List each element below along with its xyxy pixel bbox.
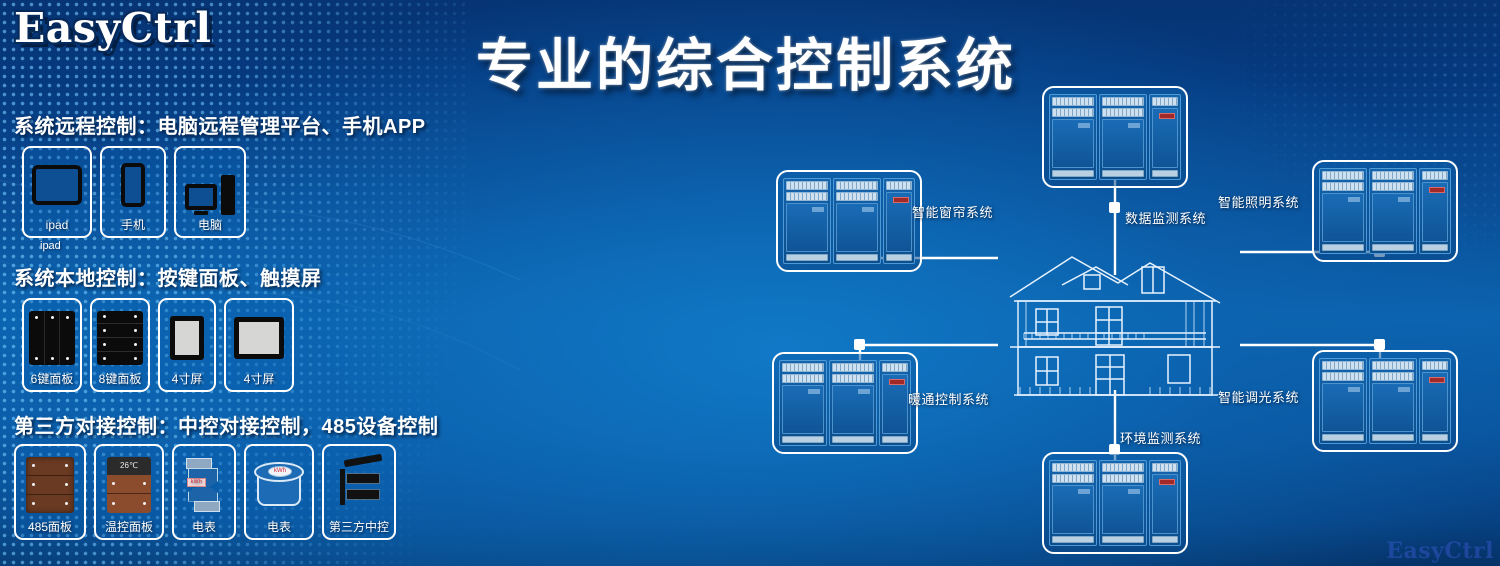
controller-box-environment[interactable] xyxy=(1042,452,1188,554)
device-card-label: ipad xyxy=(46,218,69,232)
controller-box-monitoring[interactable] xyxy=(1042,86,1188,188)
watermark: EasyCtrl xyxy=(1386,538,1494,564)
third-party-rack-icon xyxy=(328,452,390,517)
rs485-panel-icon xyxy=(20,452,80,517)
thermostat-panel-icon: 26℃ xyxy=(100,452,158,517)
round-meter-icon: kWh xyxy=(250,452,308,517)
device-card-label: 电脑 xyxy=(198,218,222,232)
device-card-round-meter[interactable]: kWh 电表 xyxy=(244,444,314,540)
device-card-touch-screen-1[interactable]: 4寸屏 xyxy=(158,298,216,392)
touch-screen-wide-icon xyxy=(230,306,288,369)
node-label-dimming: 智能调光系统 xyxy=(1218,387,1299,406)
device-card-touch-screen-2[interactable]: 4寸屏 xyxy=(224,298,294,392)
ipad-sub-note: ipad xyxy=(40,240,61,252)
controller-module xyxy=(1149,94,1181,180)
din-meter-icon: kWh xyxy=(178,452,230,517)
controller-module xyxy=(829,360,877,446)
card-row-thirdparty: 485面板 26℃ 温控面板 kWh 电表 xyxy=(14,444,396,540)
device-card-label: 第三方中控 xyxy=(329,520,389,534)
node-label-lighting: 智能照明系统 xyxy=(1218,192,1299,211)
thermostat-display-value: 26℃ xyxy=(107,457,151,475)
controller-box-lighting[interactable] xyxy=(1312,160,1458,262)
house-illustration xyxy=(1000,245,1230,405)
controller-module xyxy=(1319,168,1367,254)
controller-module xyxy=(879,360,911,446)
controller-box-hvac[interactable] xyxy=(772,352,918,454)
controller-module xyxy=(1049,94,1097,180)
brand-logo: EasyCtrl xyxy=(14,4,211,52)
poster-canvas: EasyCtrl 专业的综合控制系统 系统远程控制：电脑远程管理平台、手机APP… xyxy=(0,0,1500,566)
device-card-8key-panel[interactable]: 8键面板 xyxy=(90,298,150,392)
device-card-label: 4寸屏 xyxy=(172,372,203,386)
touch-screen-icon xyxy=(164,306,210,369)
controller-module xyxy=(1049,460,1097,546)
device-card-label: 电表 xyxy=(192,520,216,534)
node-label-hvac: 暖通控制系统 xyxy=(908,389,989,408)
device-card-label: 电表 xyxy=(267,520,291,534)
tablet-icon xyxy=(28,154,86,215)
device-card-third-party-rack[interactable]: 第三方中控 xyxy=(322,444,396,540)
controller-module xyxy=(783,178,831,264)
meter-badge: kWh xyxy=(268,466,292,477)
controller-module xyxy=(1419,358,1451,444)
eight-key-panel-icon xyxy=(96,306,144,369)
controller-module xyxy=(1099,94,1147,180)
node-label-environment: 环境监测系统 xyxy=(1120,428,1201,447)
controller-module xyxy=(833,178,881,264)
controller-module xyxy=(1369,168,1417,254)
device-card-label: 8键面板 xyxy=(99,372,142,386)
node-label-monitoring: 数据监测系统 xyxy=(1125,208,1206,227)
section-heading-thirdparty: 第三方对接控制：中控对接控制，485设备控制 xyxy=(14,410,438,439)
computer-icon xyxy=(180,154,240,215)
device-card-label: 温控面板 xyxy=(105,520,153,534)
controller-module xyxy=(1149,460,1181,546)
controller-module xyxy=(883,178,915,264)
controller-module xyxy=(1369,358,1417,444)
device-card-thermostat-panel[interactable]: 26℃ 温控面板 xyxy=(94,444,164,540)
device-card-label: 手机 xyxy=(121,218,145,232)
device-card-label: 485面板 xyxy=(28,520,72,534)
card-row-remote: ipad 手机 电脑 xyxy=(22,146,246,238)
meter-badge: kWh xyxy=(187,478,206,487)
device-card-label: 4寸屏 xyxy=(244,372,275,386)
node-label-curtain: 智能窗帘系统 xyxy=(912,202,993,221)
device-card-din-meter[interactable]: kWh 电表 xyxy=(172,444,236,540)
device-card-485-panel[interactable]: 485面板 xyxy=(14,444,86,540)
controller-module xyxy=(779,360,827,446)
card-row-local: 6键面板 8键面板 4寸屏 4寸屏 xyxy=(22,298,294,392)
device-card-computer[interactable]: 电脑 xyxy=(174,146,246,238)
device-card-phone[interactable]: 手机 xyxy=(100,146,166,238)
controller-module xyxy=(1419,168,1451,254)
six-key-panel-icon xyxy=(28,306,76,369)
section-heading-remote: 系统远程控制：电脑远程管理平台、手机APP xyxy=(14,110,426,139)
controller-box-dimming[interactable] xyxy=(1312,350,1458,452)
phone-icon xyxy=(106,154,160,215)
device-card-label: 6键面板 xyxy=(31,372,74,386)
device-card-6key-panel[interactable]: 6键面板 xyxy=(22,298,82,392)
device-card-ipad[interactable]: ipad xyxy=(22,146,92,238)
section-heading-local: 系统本地控制：按键面板、触摸屏 xyxy=(14,262,322,291)
controller-module xyxy=(1319,358,1367,444)
controller-module xyxy=(1099,460,1147,546)
controller-box-curtain[interactable] xyxy=(776,170,922,272)
system-topology-diagram: 智能窗帘系统 数据监测系统 智能照明系统 暖通控制系统 智能调光系统 xyxy=(740,60,1500,566)
